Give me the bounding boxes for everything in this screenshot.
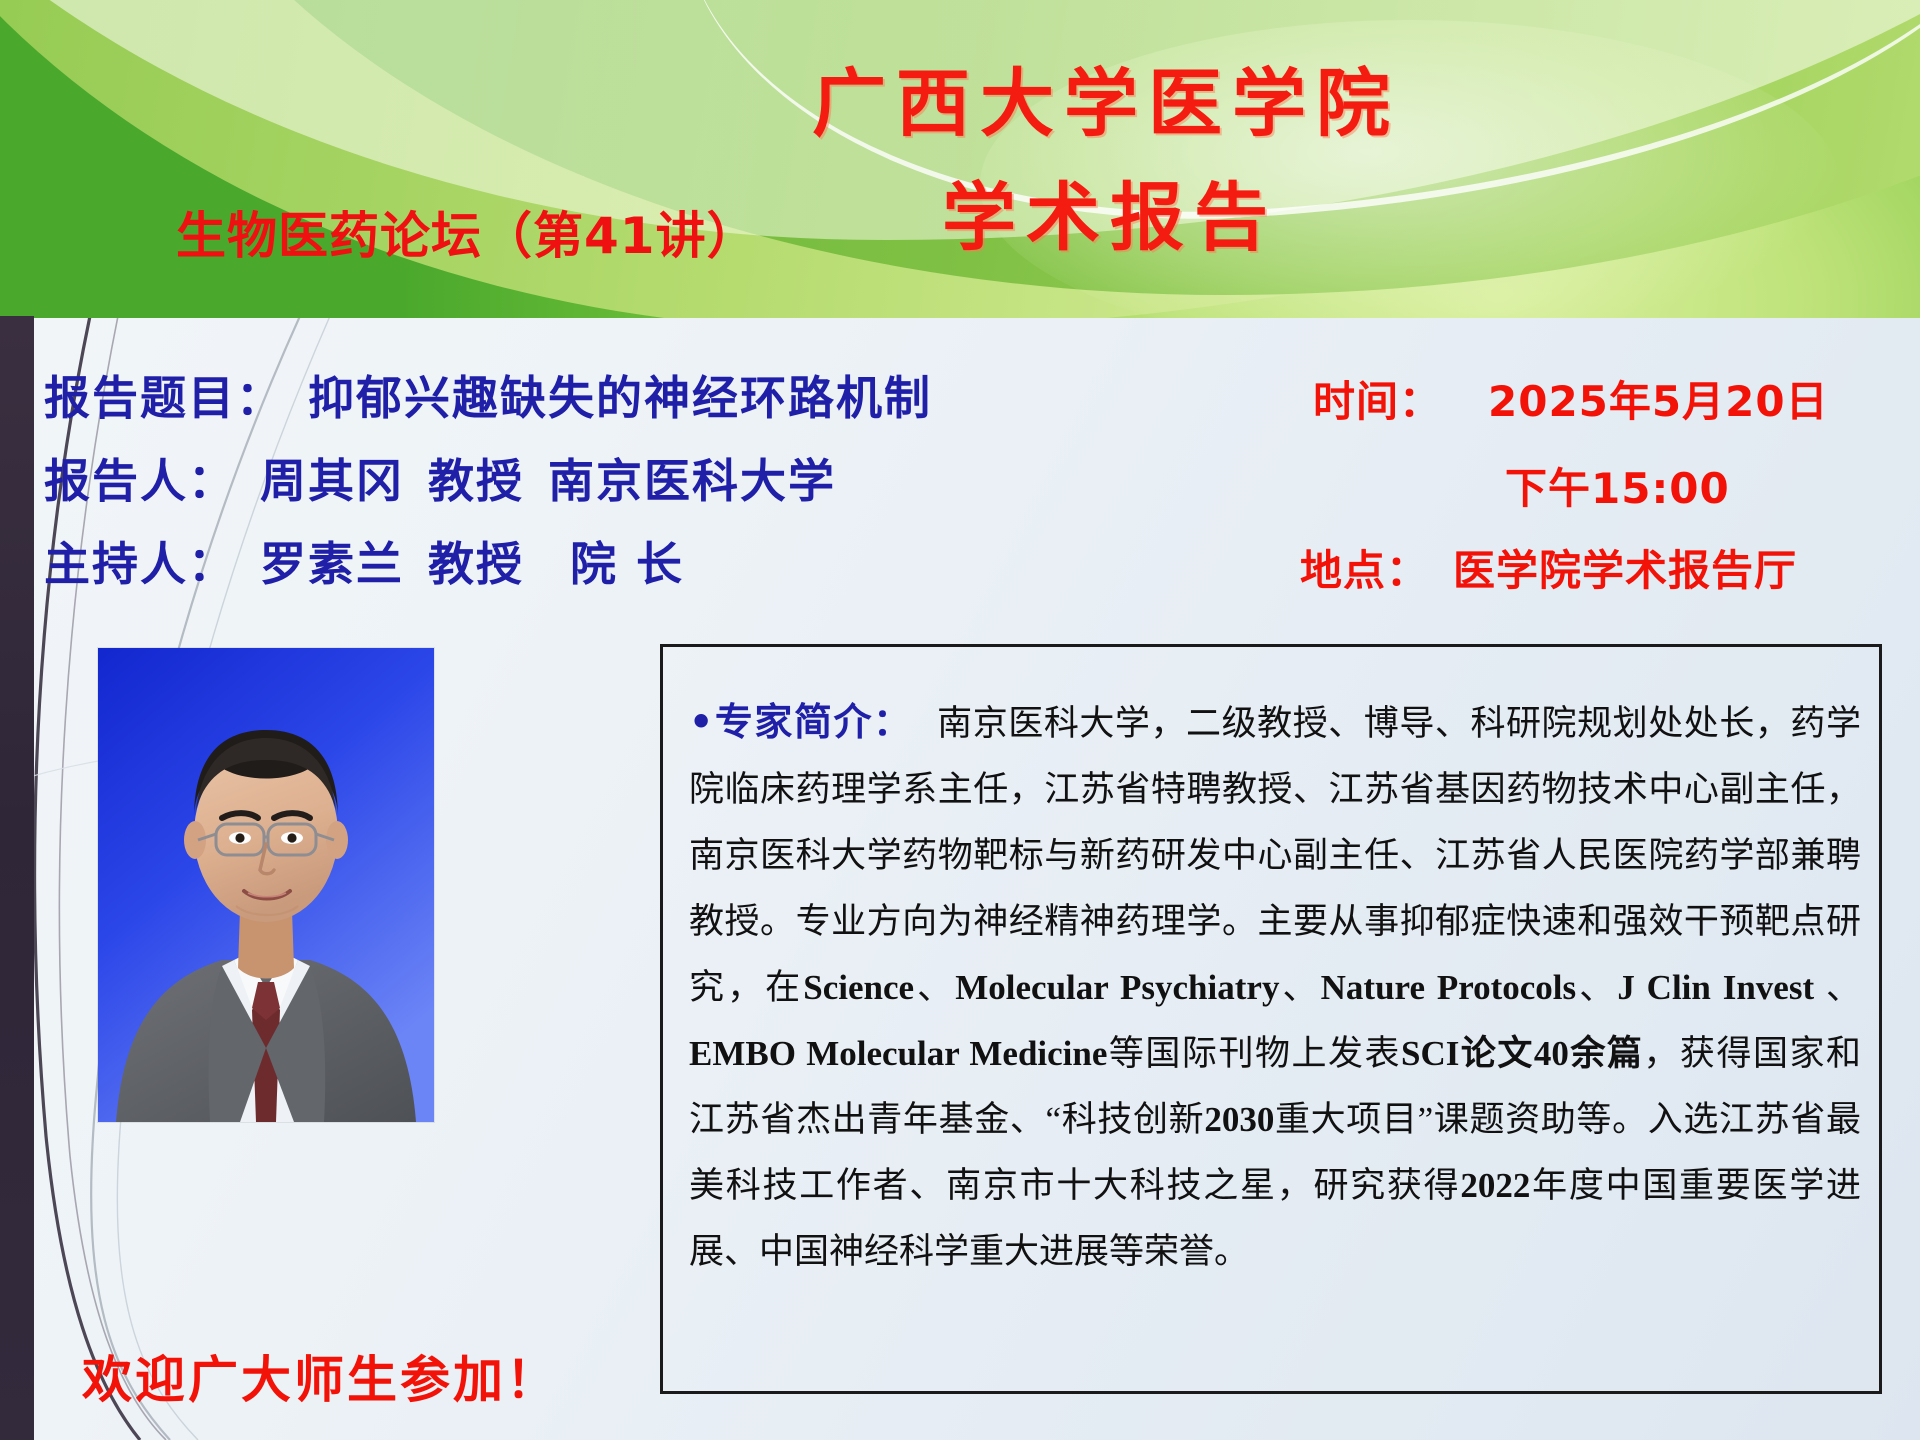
talk-title-row: 报告题目：抑郁兴趣缺失的神经环路机制 [44,362,932,428]
bio-sep-1: 、 [914,968,955,1007]
host-name: 罗素兰 [260,537,404,591]
journal-j-clin-invest: J Clin Invest [1617,968,1814,1007]
welcome-message: 欢迎广大师生参加！ [82,1340,559,1412]
poster-title-line-1: 广西大学医学院 [812,44,1400,151]
venue-value: 医学院学术报告厅 [1453,546,1797,595]
poster-root: 2016 广 西 大 学 医 学 院 MEDICAL SCHOOL OF GUA… [0,0,1920,1440]
speaker-bio-text: •专家简介：南京医科大学，二级教授、博导、科研院规划处处长，药学院临床药理学系主… [689,689,1861,1285]
left-dark-spine [0,316,34,1440]
speaker-bio-box: •专家简介：南京医科大学，二级教授、博导、科研院规划处处长，药学院临床药理学系主… [660,644,1882,1394]
journal-embo-molecular-medicine: EMBO Molecular Medicine [689,1034,1107,1073]
speaker-affiliation: 南京医科大学 [548,454,836,508]
host-rank: 教授 [428,537,524,591]
host-row: 主持人：罗素兰教授院 长 [44,528,684,594]
bio-paragraph-1: 南京医科大学，二级教授、博导、科研院规划处处长，药学院临床药理学系主任，江苏省特… [689,704,1861,1007]
speaker-label: 报告人： [44,454,236,508]
bio-year-2022: 2022 [1460,1166,1530,1205]
speaker-rank: 教授 [428,454,524,508]
bio-heading: •专家简介： [689,700,913,744]
talk-title-value: 抑郁兴趣缺失的神经环路机制 [308,371,932,425]
speaker-name: 周其冈 [260,454,404,508]
host-title: 院 长 [570,537,684,591]
speaker-photo [98,648,434,1122]
bio-paragraph-2: 等国际刊物上发表 [1107,1034,1401,1073]
journal-nature-protocols: Nature Protocols [1321,968,1577,1007]
time-date-value: 2025年5月20日 [1488,377,1829,426]
time-row: 时间：2025年5月20日 [1313,368,1829,429]
time-clock-value: 下午15:00 [1505,464,1730,513]
host-label: 主持人： [44,537,236,591]
journal-science: Science [803,968,914,1007]
talk-title-label: 报告题目： [44,371,284,425]
bio-sep-4: 、 [1814,968,1861,1007]
bio-sep-3: 、 [1576,968,1617,1007]
bio-sep-2: 、 [1279,968,1320,1007]
time-label: 时间： [1313,377,1442,426]
poster-title-line-2: 学术报告 [942,158,1278,265]
time-clock-row: 下午15:00 [1505,455,1730,516]
bio-sci-count: SCI论文40余篇 [1401,1034,1643,1073]
forum-series-label: 生物医药论坛（第41讲） [176,196,758,268]
journal-molecular-psychiatry: Molecular Psychiatry [955,968,1279,1007]
venue-row: 地点：医学院学术报告厅 [1300,537,1797,598]
venue-label: 地点： [1300,546,1429,595]
speaker-row: 报告人：周其冈教授南京医科大学 [44,445,836,511]
bio-program-2030: 2030 [1204,1100,1274,1139]
